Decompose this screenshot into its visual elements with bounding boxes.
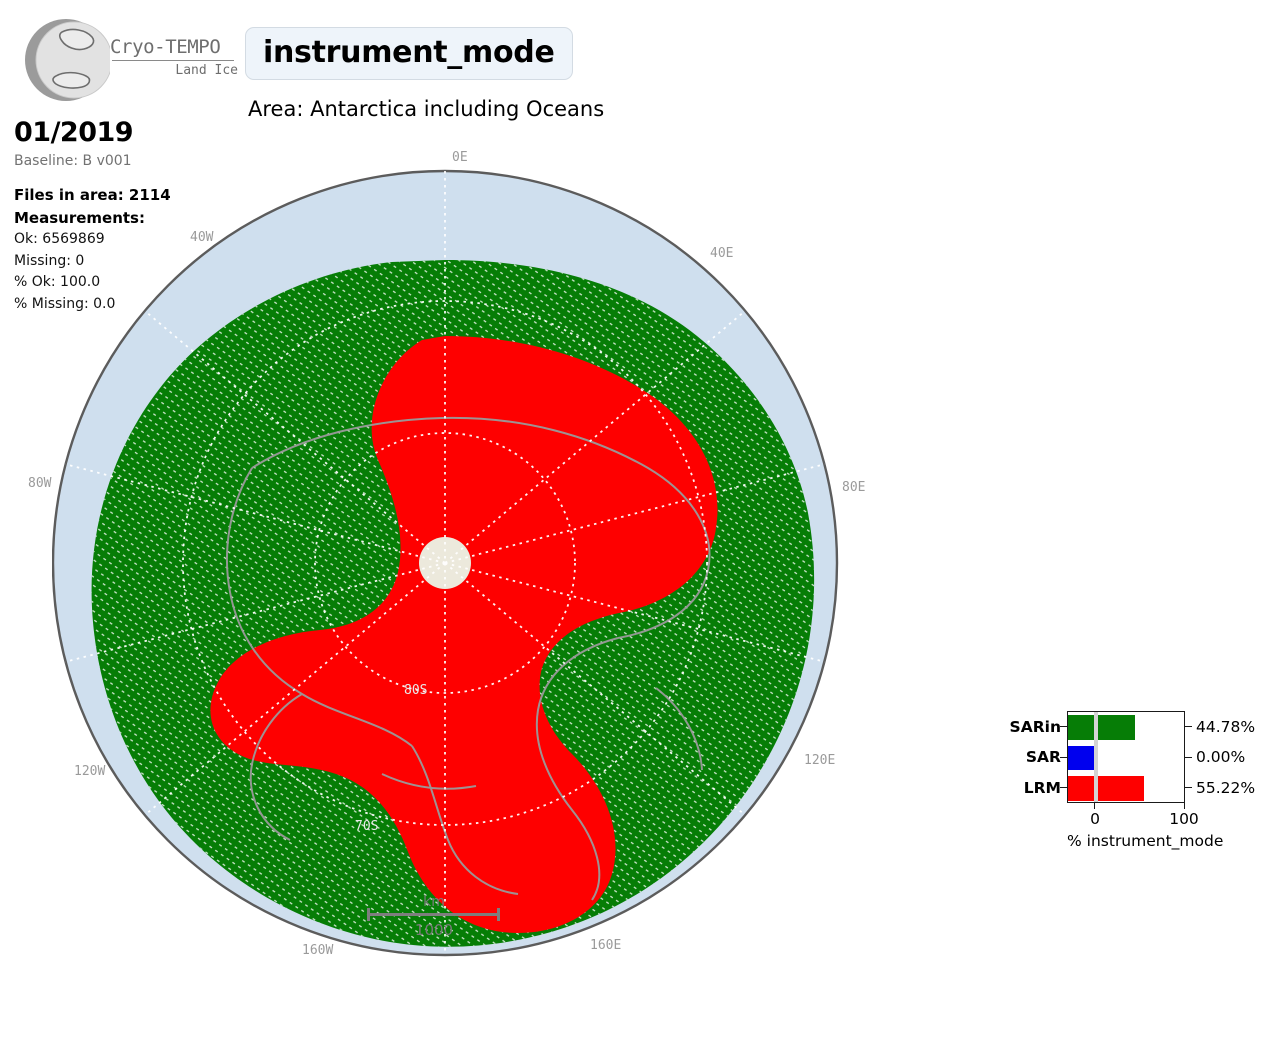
map-lon-label-80w: 80W [28,476,51,491]
legend-tick-right-lrm [1185,787,1192,788]
logo-name: Cryo-TEMPO [110,36,238,58]
legend-axis-title: % instrument_mode [1067,832,1185,850]
legend-swatch-lrm [1068,776,1094,801]
map-lon-label-80e: 80E [842,480,865,495]
legend-xtick-label-0: 0 [1090,810,1100,828]
legend-bar-row-sarin [1068,712,1184,743]
map-lon-label-40w: 40W [190,230,213,245]
legend-xtick-100 [1184,803,1185,809]
logo-subtitle: Land Ice [110,63,238,79]
polar-map: 0E 40W 40E 80W 80E 120W 120E 160W 160E 8… [52,168,842,958]
legend-bar-sarin [1098,715,1136,740]
scalebar-tick-right [497,908,500,921]
legend-label-sarin: SARin [1010,718,1061,736]
scalebar-tick-left [367,908,370,921]
map-lat-label-70s: 70S [355,819,378,834]
legend-bar-row-lrm [1068,773,1184,804]
legend-value-lrm: 55.22% [1196,779,1255,797]
map-lon-label-160w: 160W [302,943,333,958]
page-title: instrument_mode [245,27,573,80]
legend-value-sar: 0.00% [1196,748,1245,766]
map-lon-label-120e: 120E [804,753,835,768]
scalebar-line [367,913,500,916]
legend-tick-left-sar [1060,757,1067,758]
map-canvas [52,168,842,958]
legend-swatch-sarin [1068,715,1094,740]
legend-label-sar: SAR [1026,748,1061,766]
globe-icon [22,16,110,104]
legend-tick-right-sarin [1185,726,1192,727]
legend-plot-area [1067,711,1185,803]
brand-logo: Cryo-TEMPO Land Ice [14,12,234,108]
legend-value-sarin: 44.78% [1196,718,1255,736]
date-label: 01/2019 [14,116,238,150]
scalebar [367,908,500,920]
area-subtitle: Area: Antarctica including Oceans [248,97,604,121]
logo-divider [112,60,234,61]
legend-tick-right-sar [1185,757,1192,758]
map-lat-label-80s: 80S [404,683,427,698]
legend-bar-row-sar [1068,743,1184,774]
legend-tick-left-sarin [1060,726,1067,727]
map-lon-label-120w: 120W [74,764,105,779]
legend-swatch-sar [1068,746,1094,771]
legend-xtick-0 [1094,803,1095,809]
legend-xtick-label-100: 100 [1169,810,1199,828]
scalebar-value: 1000 [368,921,500,939]
map-lon-label-160e: 160E [590,938,621,953]
legend-bar-lrm [1098,776,1145,801]
legend-tick-left-lrm [1060,787,1067,788]
legend-label-lrm: LRM [1024,779,1061,797]
instrument-mode-legend-chart: SARin SAR LRM 44.78% 0.00% 55.22% 0 100 … [1000,706,1260,846]
map-lon-label-0e: 0E [452,150,468,165]
map-lon-label-40e: 40E [710,246,733,261]
